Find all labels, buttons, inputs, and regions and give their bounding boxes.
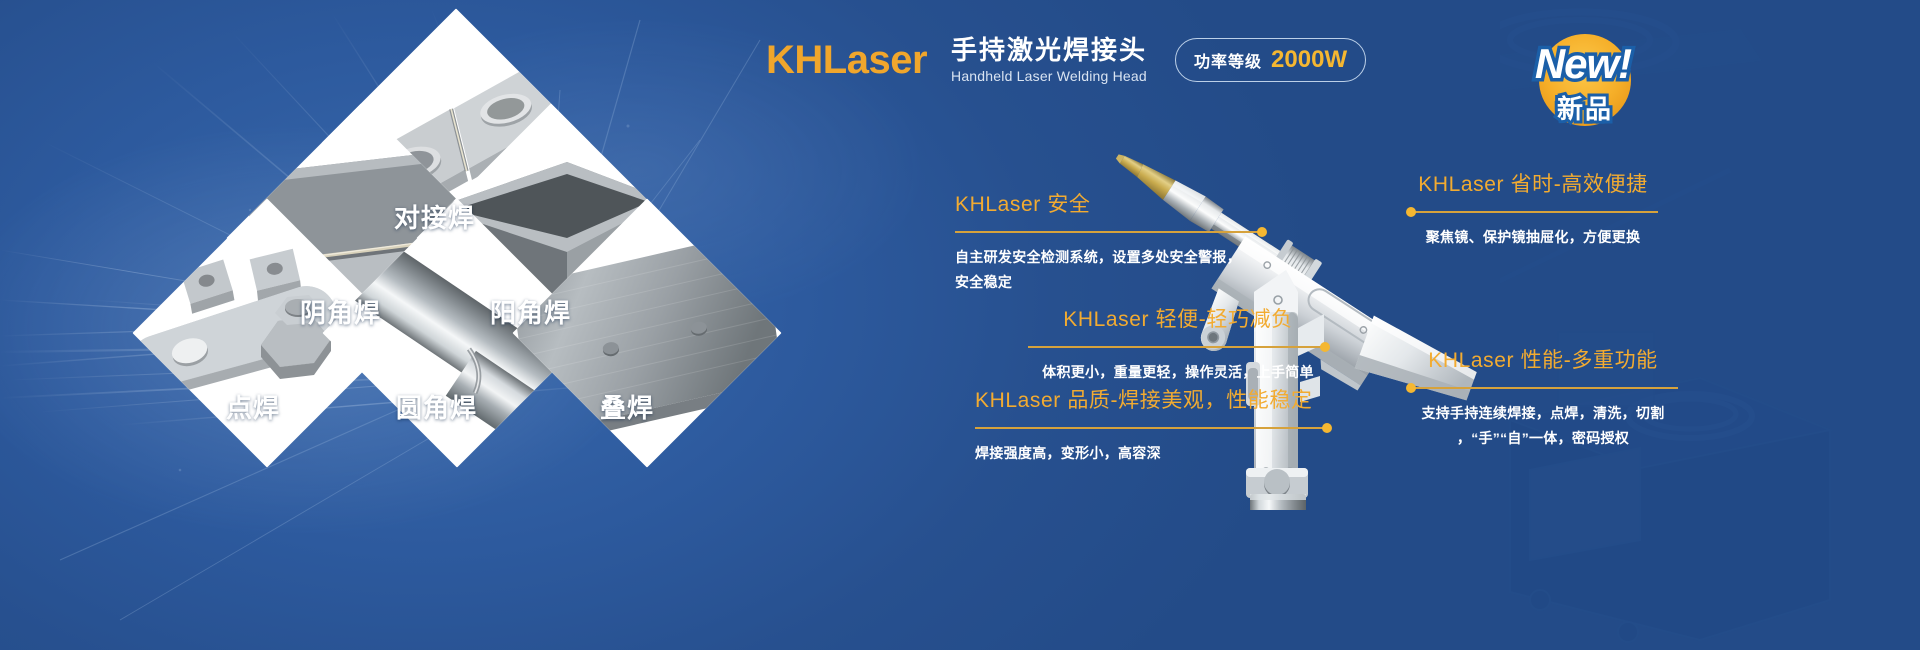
feature-rule-dot [1406, 383, 1416, 393]
feature-safety-desc: 自主研发安全检测系统，设置多处安全警报， 安全稳定 [955, 245, 1265, 294]
weld-type-diamond-grid: 对接焊 阴角焊 阳角焊 点焊 圆角焊 叠焊 [148, 48, 768, 548]
product-title-en: Handheld Laser Welding Head [951, 68, 1147, 84]
feature-time-saving-rule [1408, 206, 1658, 218]
weld-label-inner-corner-weld: 阴角焊 [300, 293, 381, 330]
brand-logo: KHLaser [766, 40, 927, 80]
power-rating-label: 功率等级 [1194, 48, 1262, 72]
feature-rule-line [975, 427, 1330, 429]
power-rating-value: 2000W [1271, 46, 1347, 74]
feature-performance-desc: 支持手持连续焊接，点焊，清洗，切割 ，“手”“自”一体，密码授权 [1408, 401, 1678, 450]
weld-label-outer-corner-weld: 阳角焊 [490, 293, 571, 330]
feature-lightweight-title: KHLaser 轻便-轻巧减负 [1028, 307, 1328, 332]
product-title-cn: 手持激光焊接头 [951, 36, 1147, 65]
feature-safety-title: KHLaser 安全 [955, 192, 1265, 217]
feature-rule-line [1028, 346, 1328, 348]
feature-safety-rule [955, 226, 1265, 238]
feature-performance-rule [1408, 382, 1678, 394]
feature-time-saving: KHLaser 省时-高效便捷 聚焦镜、保护镜抽屉化，方便更换 [1408, 172, 1658, 250]
power-rating-badge: 功率等级 2000W [1175, 38, 1366, 82]
banner-header: KHLaser 手持激光焊接头 Handheld Laser Welding H… [766, 36, 1366, 84]
weld-label-spot-weld: 点焊 [226, 388, 280, 425]
svg-text:New!: New! [1535, 40, 1632, 87]
svg-text:新品: 新品 [1557, 94, 1613, 125]
weld-label-lap-weld: 叠焊 [600, 388, 654, 425]
feature-lightweight-rule [1028, 341, 1328, 353]
feature-quality-rule [975, 422, 1330, 434]
feature-quality-desc: 焊接强度高，变形小，高容深 [975, 441, 1330, 466]
feature-rule-line [955, 231, 1265, 233]
feature-rule-line [1408, 387, 1678, 389]
feature-safety: KHLaser 安全 自主研发安全检测系统，设置多处安全警报， 安全稳定 [955, 192, 1265, 294]
product-banner: 对接焊 阴角焊 阳角焊 点焊 圆角焊 叠焊 KHLaser 手持激光焊接头 Ha… [0, 0, 1920, 650]
feature-quality-title: KHLaser 品质-焊接美观，性能稳定 [975, 388, 1330, 413]
weld-label-fillet-weld: 圆角焊 [396, 388, 477, 425]
feature-lightweight-desc: 体积更小，重量更轻，操作灵活，上手简单 [1028, 360, 1328, 385]
feature-rule-dot [1406, 207, 1416, 217]
feature-performance-title: KHLaser 性能-多重功能 [1408, 348, 1678, 373]
product-title-block: 手持激光焊接头 Handheld Laser Welding Head [951, 36, 1147, 84]
new-product-badge: New! 新品 [1513, 22, 1661, 134]
feature-time-saving-desc: 聚焦镜、保护镜抽屉化，方便更换 [1408, 225, 1658, 250]
feature-time-saving-title: KHLaser 省时-高效便捷 [1408, 172, 1658, 197]
feature-rule-line [1408, 211, 1658, 213]
feature-performance: KHLaser 性能-多重功能 支持手持连续焊接，点焊，清洗，切割 ，“手”“自… [1408, 348, 1678, 450]
feature-quality: KHLaser 品质-焊接美观，性能稳定 焊接强度高，变形小，高容深 [975, 388, 1330, 466]
weld-label-butt-weld: 对接焊 [394, 198, 475, 235]
feature-lightweight: KHLaser 轻便-轻巧减负 体积更小，重量更轻，操作灵活，上手简单 [1028, 307, 1328, 385]
